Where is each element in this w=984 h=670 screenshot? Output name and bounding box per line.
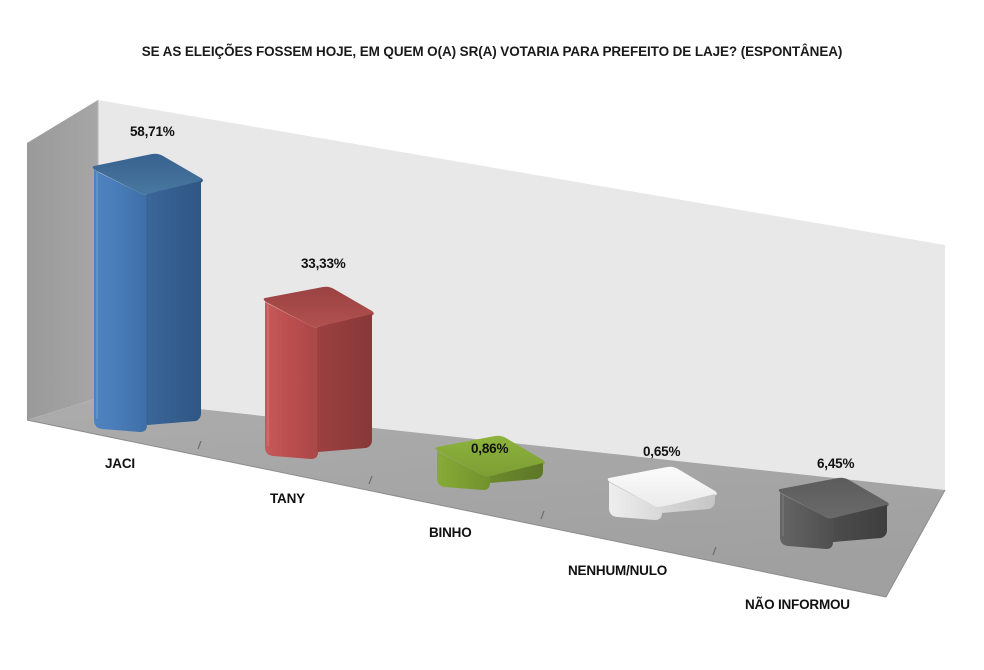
value-label-binho: 0,86% <box>471 441 508 456</box>
value-label-jaci: 58,71% <box>130 124 175 139</box>
category-label-binho: BINHO <box>429 525 472 540</box>
value-label-nao-informou: 6,45% <box>817 456 854 471</box>
value-label-tany: 33,33% <box>301 256 346 271</box>
category-label-tany: TANY <box>270 491 305 506</box>
bar-tany[interactable] <box>264 287 374 459</box>
bar-front-face <box>94 170 147 432</box>
bar-side-face <box>318 314 372 452</box>
bar-jaci[interactable] <box>93 154 203 432</box>
side-wall <box>27 100 98 420</box>
bar-side-face-fix <box>147 181 201 425</box>
value-label-nenhum-nulo: 0,65% <box>643 444 680 459</box>
chart-root: SE AS ELEIÇÕES FOSSEM HOJE, EM QUEM O(A)… <box>0 0 984 670</box>
category-label-jaci: JACI <box>105 456 135 471</box>
category-label-nao-informou: NÃO INFORMOU <box>745 597 850 612</box>
chart-3d-scene <box>0 0 984 670</box>
plot-area <box>27 100 945 597</box>
category-label-nenhum-nulo: NENHUM/NULO <box>568 563 667 578</box>
